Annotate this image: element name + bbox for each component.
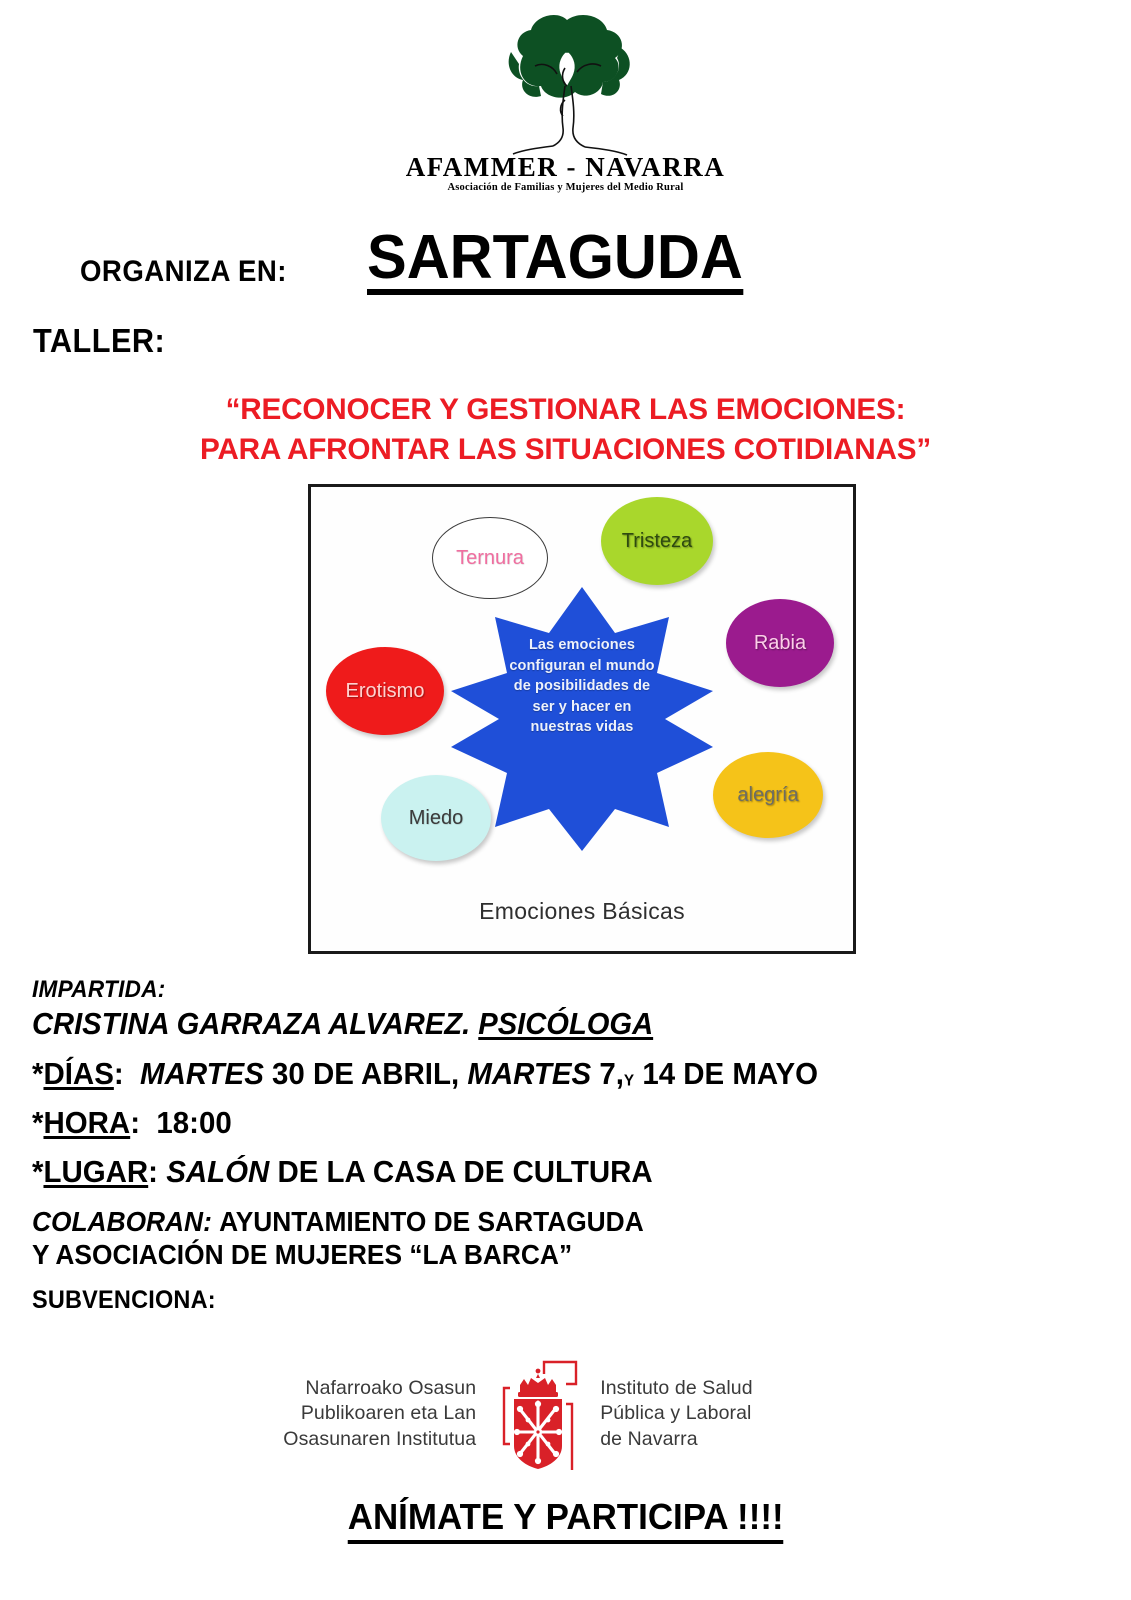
emotion-tristeza: Tristeza bbox=[601, 497, 713, 585]
star-line-3: de posibilidades de bbox=[447, 676, 717, 697]
institution-spanish-text: Instituto de Salud Pública y Laboral de … bbox=[592, 1376, 753, 1452]
colaboran-line-1: COLABORAN: AYUNTAMIENTO DE SARTAGUDA bbox=[32, 1206, 1038, 1238]
oak-tree-icon bbox=[461, 8, 671, 158]
dias-colon: : bbox=[114, 1056, 124, 1091]
dias-marker: * bbox=[32, 1056, 43, 1091]
spanish-line-1: Instituto de Salud bbox=[600, 1376, 753, 1401]
colaboran-label: COLABORAN: bbox=[32, 1206, 212, 1237]
lugar-rest: DE LA CASA DE CULTURA bbox=[277, 1154, 652, 1189]
emotion-rabia: Rabia bbox=[726, 599, 834, 687]
emotion-erotismo: Erotismo bbox=[326, 647, 444, 735]
impartida-label: IMPARTIDA: bbox=[32, 976, 1038, 1004]
emotions-diagram: Las emociones configuran el mundo de pos… bbox=[308, 484, 856, 954]
basque-line-2: Publikoaren eta Lan bbox=[283, 1401, 476, 1426]
organiza-label: ORGANIZA EN: bbox=[80, 255, 287, 295]
navarra-health-institute-logo: Nafarroako Osasun Publikoaren eta Lan Os… bbox=[268, 1358, 768, 1470]
star-caption: Las emociones configuran el mundo de pos… bbox=[447, 635, 717, 738]
star-line-5: nuestras vidas bbox=[447, 717, 717, 738]
star-line-4: ser y hacer en bbox=[447, 697, 717, 718]
institution-basque-text: Nafarroako Osasun Publikoaren eta Lan Os… bbox=[283, 1376, 484, 1452]
instructor-role: PSICÓLOGA bbox=[478, 1006, 653, 1041]
spanish-line-3: de Navarra bbox=[600, 1427, 753, 1452]
details-block: IMPARTIDA: CRISTINA GARRAZA ALVAREZ. PSI… bbox=[32, 976, 1102, 1315]
organiza-row: ORGANIZA EN: SARTAGUDA bbox=[80, 226, 980, 295]
dias-label: DÍAS bbox=[43, 1056, 113, 1091]
colaboran-line-2: Y ASOCIACIÓN DE MUJERES “LA BARCA” bbox=[32, 1239, 1038, 1271]
call-to-action: ANÍMATE Y PARTICIPA !!!! bbox=[0, 1496, 1131, 1544]
town-name: SARTAGUDA bbox=[367, 226, 743, 295]
spanish-line-2: Pública y Laboral bbox=[600, 1401, 753, 1426]
lugar-colon: : bbox=[148, 1154, 158, 1189]
subvenciona-label: SUBVENCIONA: bbox=[32, 1286, 1038, 1315]
diagram-caption: Emociones Básicas bbox=[311, 898, 853, 925]
dias-part3: MARTES bbox=[467, 1056, 591, 1091]
emotion-alegria: alegría bbox=[713, 752, 823, 838]
dias-line: *DÍAS: MARTES 30 DE ABRIL, MARTES 7,Y 14… bbox=[32, 1056, 1049, 1092]
afammer-tagline: Asociación de Familias y Mujeres del Med… bbox=[0, 183, 1131, 194]
workshop-title: “RECONOCER Y GESTIONAR LAS EMOCIONES: PA… bbox=[0, 390, 1131, 469]
dias-part4: 7, bbox=[599, 1056, 624, 1091]
dias-part2: 30 DE ABRIL, bbox=[272, 1056, 459, 1091]
cta-text: ANÍMATE Y PARTICIPA !!!! bbox=[348, 1496, 784, 1544]
workshop-title-line1: “RECONOCER Y GESTIONAR LAS EMOCIONES: bbox=[6, 390, 1126, 430]
hora-marker: * bbox=[32, 1105, 43, 1140]
lugar-line: *LUGAR: SALÓN DE LA CASA DE CULTURA bbox=[32, 1154, 1049, 1190]
basque-line-3: Osasunaren Institutua bbox=[283, 1427, 476, 1452]
afammer-logo: AFAMMER - NAVARRA Asociación de Familias… bbox=[0, 8, 1131, 194]
lugar-venue: SALÓN bbox=[166, 1154, 269, 1189]
instructor-line: CRISTINA GARRAZA ALVAREZ. PSICÓLOGA bbox=[32, 1006, 1038, 1042]
colaboran-entity-1: AYUNTAMIENTO DE SARTAGUDA bbox=[219, 1206, 644, 1237]
instructor-name: CRISTINA GARRAZA ALVAREZ. bbox=[32, 1006, 470, 1041]
dias-part1: MARTES bbox=[140, 1056, 264, 1091]
emotion-miedo: Miedo bbox=[381, 775, 491, 861]
hora-colon: : bbox=[130, 1105, 140, 1140]
taller-label: TALLER: bbox=[33, 322, 165, 360]
dias-conj: Y bbox=[624, 1072, 634, 1090]
hora-value: 18:00 bbox=[156, 1105, 231, 1140]
star-line-2: configuran el mundo bbox=[447, 656, 717, 677]
hora-label: HORA bbox=[43, 1105, 130, 1140]
dias-part5: 14 DE MAYO bbox=[642, 1056, 818, 1091]
lugar-marker: * bbox=[32, 1154, 43, 1189]
afammer-wordmark: AFAMMER - NAVARRA bbox=[0, 154, 1131, 181]
basque-line-1: Nafarroako Osasun bbox=[283, 1376, 476, 1401]
hora-line: *HORA: 18:00 bbox=[32, 1105, 1049, 1141]
poster-page: AFAMMER - NAVARRA Asociación de Familias… bbox=[0, 0, 1131, 1600]
emotion-ternura: Ternura bbox=[432, 517, 548, 599]
lugar-label: LUGAR bbox=[43, 1154, 148, 1189]
star-line-1: Las emociones bbox=[447, 635, 717, 656]
workshop-title-line2: PARA AFRONTAR LAS SITUACIONES COTIDIANAS… bbox=[6, 430, 1126, 470]
navarra-coat-of-arms-icon bbox=[484, 1358, 592, 1470]
